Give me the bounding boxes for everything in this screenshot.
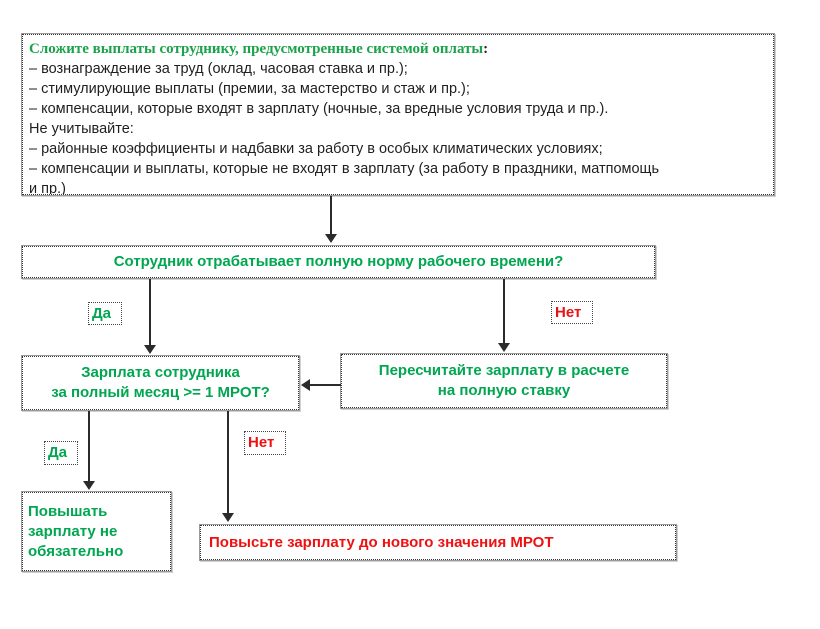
connector-recalc-to-decision-salary bbox=[310, 384, 341, 386]
node-intro-payments: Сложите выплаты сотруднику, предусмотрен… bbox=[21, 33, 775, 196]
label-yes-bottom-text: Да bbox=[48, 443, 67, 463]
arrowhead-decision-no bbox=[498, 343, 510, 352]
connector-decision-yes bbox=[149, 279, 151, 347]
node-outcome-raise-to-mrot-inner: Повысьте зарплату до нового значения МРО… bbox=[200, 525, 676, 560]
node-decision-full-hours: Сотрудник отрабатывает полную норму рабо… bbox=[21, 245, 656, 279]
node-recalculate-full-rate: Пересчитайте зарплату в расчете на полну… bbox=[340, 353, 668, 409]
connector-salary-yes bbox=[88, 411, 90, 483]
outcome-raise-text: Повысьте зарплату до нового значения МРО… bbox=[209, 533, 554, 553]
connector-decision-no bbox=[503, 279, 505, 345]
label-no-top-text: Нет bbox=[555, 303, 581, 323]
intro-line-5: – районные коэффициенты и надбавки за ра… bbox=[29, 139, 603, 159]
label-yes-bottom: Да bbox=[44, 441, 78, 465]
outcome-optional-line-3: обязательно bbox=[28, 542, 123, 562]
node-intro-payments-inner: Сложите выплаты сотруднику, предусмотрен… bbox=[22, 34, 774, 195]
label-no-bottom: Нет bbox=[244, 431, 286, 455]
intro-line-2: – стимулирующие выплаты (премии, за маст… bbox=[29, 79, 470, 99]
node-outcome-raise-optional: Повышать зарплату не обязательно bbox=[21, 491, 172, 572]
recalculate-line-2: на полную ставку bbox=[438, 381, 570, 401]
arrowhead-recalc-to-decision-salary bbox=[301, 379, 310, 391]
node-decision-full-hours-inner: Сотрудник отрабатывает полную норму рабо… bbox=[22, 246, 655, 278]
decision-salary-mrot-line-2: за полный месяц >= 1 МРОТ? bbox=[51, 383, 270, 403]
recalculate-line-1: Пересчитайте зарплату в расчете bbox=[379, 361, 629, 381]
label-yes-top: Да bbox=[88, 302, 122, 325]
arrowhead-intro-to-decision-hours bbox=[325, 234, 337, 243]
arrowhead-salary-yes bbox=[83, 481, 95, 490]
connector-salary-no bbox=[227, 411, 229, 515]
flowchart-canvas: Сложите выплаты сотруднику, предусмотрен… bbox=[0, 0, 820, 629]
intro-heading-text: Сложите выплаты сотруднику, предусмотрен… bbox=[29, 41, 483, 57]
arrowhead-decision-yes bbox=[144, 345, 156, 354]
intro-line-1: – вознаграждение за труд (оклад, часовая… bbox=[29, 59, 408, 79]
outcome-optional-line-1: Повышать bbox=[28, 502, 107, 522]
node-decision-salary-mrot: Зарплата сотрудника за полный месяц >= 1… bbox=[21, 355, 300, 411]
node-decision-salary-mrot-inner: Зарплата сотрудника за полный месяц >= 1… bbox=[22, 356, 299, 410]
node-outcome-raise-to-mrot: Повысьте зарплату до нового значения МРО… bbox=[199, 524, 677, 561]
arrowhead-salary-no bbox=[222, 513, 234, 522]
intro-heading: Сложите выплаты сотруднику, предусмотрен… bbox=[29, 40, 488, 59]
intro-line-6: – компенсации и выплаты, которые не вход… bbox=[29, 159, 659, 179]
intro-line-7: и пр.) bbox=[29, 179, 66, 195]
node-recalculate-full-rate-inner: Пересчитайте зарплату в расчете на полну… bbox=[341, 354, 667, 408]
label-no-bottom-text: Нет bbox=[248, 433, 274, 453]
intro-line-4: Не учитывайте: bbox=[29, 119, 134, 139]
label-no-top: Нет bbox=[551, 301, 593, 324]
intro-heading-colon: : bbox=[483, 41, 488, 57]
label-yes-top-text: Да bbox=[92, 304, 111, 324]
outcome-optional-line-2: зарплату не bbox=[28, 522, 117, 542]
intro-line-3: – компенсации, которые входят в зарплату… bbox=[29, 99, 608, 119]
decision-salary-mrot-line-1: Зарплата сотрудника bbox=[81, 363, 240, 383]
decision-full-hours-text: Сотрудник отрабатывает полную норму рабо… bbox=[114, 252, 564, 272]
node-outcome-raise-optional-inner: Повышать зарплату не обязательно bbox=[22, 492, 171, 571]
connector-intro-to-decision-hours bbox=[330, 196, 332, 236]
